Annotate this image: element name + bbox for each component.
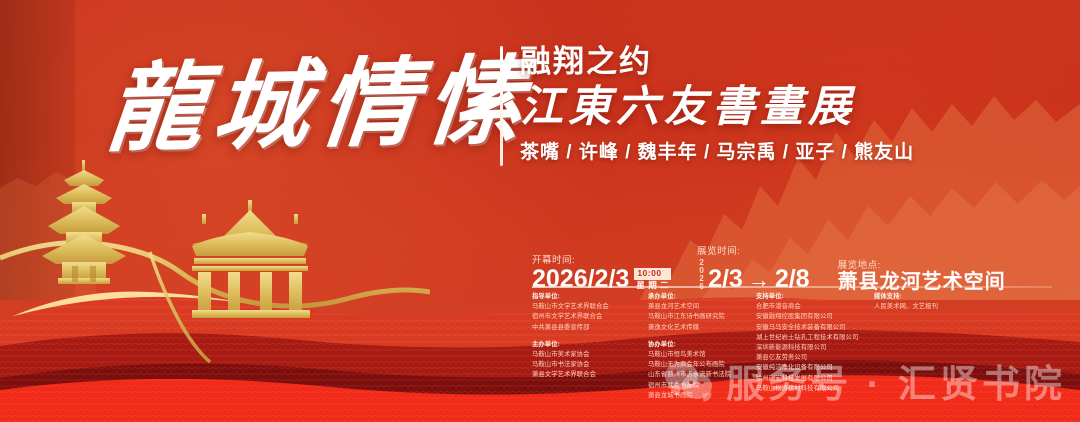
credit-line: 萧县文学艺术界联合会: [532, 370, 648, 380]
exhibition-dates-block: 展览时间: 2026 2/3 → 2/8: [697, 243, 810, 292]
main-title-calligraphy: 龍城情愫: [103, 54, 538, 159]
credit-line: 马鞍山无为商会年公布画院: [648, 360, 756, 370]
credit-line: 萧县龙河艺术空间: [648, 302, 756, 312]
credit-group: 指导单位:马鞍山市文学艺术界联合会宿州市文学艺术界联合会中共萧县县委宣传部: [532, 292, 648, 333]
credit-line: 马鞍山市恒鸟美术馆: [648, 350, 756, 360]
opening-time-chips: 10:00 星 期 二: [634, 268, 671, 292]
venue-name: 萧县龙河艺术空间: [838, 272, 1006, 292]
credit-line: 萧县亿友劳务公司: [756, 353, 874, 363]
credit-line: 湖上世纪岩土钻孔工程技术有限公司: [756, 333, 874, 343]
exhibition-time-label: 展览时间:: [697, 243, 810, 257]
credit-group-heading: 指导单位:: [532, 292, 648, 302]
credit-group: 媒体支持:人民美术网、文艺报刊: [874, 292, 994, 312]
title-divider-rule: [500, 46, 503, 166]
credit-group-heading: 承办单位:: [648, 292, 756, 302]
credit-line: 萧县龙城书画院: [648, 391, 756, 401]
venue-label: 展览地点:: [838, 257, 1006, 271]
credit-line: 马鞍山市书法家协会: [532, 360, 648, 370]
credit-line: 马鞍山市江东诗书画研究院: [648, 312, 756, 322]
exhibition-subtitle: 融翔之约: [520, 44, 940, 80]
credits-column-2: 承办单位:萧县龙河艺术空间马鞍山市江东诗书画研究院萧逸文化艺术传媒协办单位:马鞍…: [648, 292, 756, 401]
credit-line: 马鞍山市美术家协会: [532, 350, 648, 360]
credits-column-4: 媒体支持:人民美术网、文艺报刊: [874, 292, 994, 401]
credit-line: 宿州市武秀书画院: [648, 381, 756, 391]
credit-group: 主办单位:马鞍山市美术家协会马鞍山市书法家协会萧县文学艺术界联合会: [532, 340, 648, 381]
credit-line: 山东省赫州市沂水流新书法院: [648, 370, 756, 380]
credit-line: 宿州市文学艺术界联合会: [532, 312, 648, 322]
info-row-underline: [532, 286, 1052, 288]
opening-time-value: 2026/2/3 10:00 星 期 二: [532, 267, 671, 292]
opening-time-label: 开幕时间:: [532, 252, 671, 266]
credit-group-heading: 协办单位:: [648, 340, 756, 350]
credit-group-heading: 主办单位:: [532, 340, 648, 350]
credit-line: 徐州瑞宏科技发展有限公司: [756, 374, 874, 384]
credit-line: 中共萧县县委宣传部: [532, 323, 648, 333]
credit-line: 人民美术网、文艺报刊: [874, 302, 994, 312]
poster-canvas: 龍城情愫 融翔之约 江東六友書畫展 茶嘴 / 许峰 / 魏丰年 / 马宗禹 / …: [0, 0, 1080, 422]
exhibition-title: 江東六友書畫展: [520, 84, 940, 131]
artist-name-list: 茶嘴 / 许峰 / 魏丰年 / 马宗禹 / 亚子 / 熊友山: [520, 137, 940, 164]
credit-group: 承办单位:萧县龙河艺术空间马鞍山市江东诗书画研究院萧逸文化艺术传媒: [648, 292, 756, 333]
event-info-row: 开幕时间: 2026/2/3 10:00 星 期 二 展览时间: 2026 2/…: [532, 243, 1052, 292]
credit-line: 安徽马马安全技术装备有限公司: [756, 323, 874, 333]
credit-line: 合肥市港音商会: [756, 302, 874, 312]
opening-date: 2026/2/3: [532, 267, 629, 292]
credit-line: 马鞍山市文学艺术界联合会: [532, 302, 648, 312]
exhibition-start-date: 2/3: [708, 267, 743, 292]
credit-line: 萧逸文化艺术传媒: [648, 323, 756, 333]
credit-line: 深圳新能源科技有限公司: [756, 343, 874, 353]
credit-line: 安徽融翔控股集团有限公司: [756, 312, 874, 322]
credit-line: 马鞍山松涛建材科技有限公司: [756, 384, 874, 394]
credits-section: 指导单位:马鞍山市文学艺术界联合会宿州市文学艺术界联合会中共萧县县委宣传部主办单…: [532, 292, 1072, 401]
secondary-title-group: 融翔之约 江東六友書畫展 茶嘴 / 许峰 / 魏丰年 / 马宗禹 / 亚子 / …: [520, 44, 940, 164]
credit-group-heading: 支持单位:: [756, 292, 874, 302]
credits-column-1: 指导单位:马鞍山市文学艺术界联合会宿州市文学艺术界联合会中共萧县县委宣传部主办单…: [532, 292, 648, 401]
opening-clock-time: 10:00: [634, 268, 671, 279]
credit-group: 支持单位:合肥市港音商会安徽融翔控股集团有限公司安徽马马安全技术装备有限公司湖上…: [756, 292, 874, 394]
credit-line: 安徽纯洁净化设备有限公司: [756, 363, 874, 373]
credit-group-heading: 媒体支持:: [874, 292, 994, 302]
credits-column-3: 支持单位:合肥市港音商会安徽融翔控股集团有限公司安徽马马安全技术装备有限公司湖上…: [756, 292, 874, 401]
exhibition-end-date: 2/8: [775, 267, 810, 292]
credit-group: 协办单位:马鞍山市恒鸟美术馆马鞍山无为商会年公布画院山东省赫州市沂水流新书法院宿…: [648, 340, 756, 401]
